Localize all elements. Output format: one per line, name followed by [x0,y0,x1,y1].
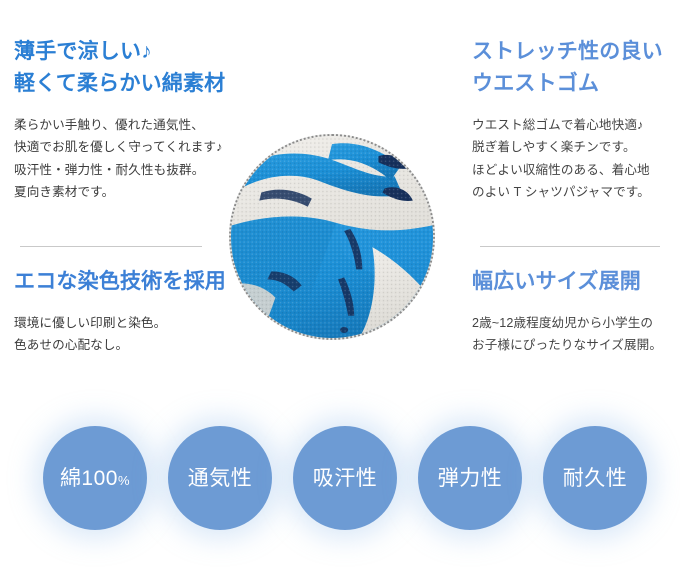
feature-body: 環境に優しい印刷と染色。 色あせの心配なし。 [14,312,244,357]
feature-block-eco-dyeing: エコな染色技術を採用 環境に優しい印刷と染色。 色あせの心配なし。 [14,266,244,357]
badge-label-unit: % [118,473,130,488]
badge-sweat-absorbent: 吸汗性 [293,426,397,530]
badge-durable: 耐久性 [543,426,647,530]
feature-block-thin-cool-cotton: 薄手で涼しい♪ 軽くて柔らかい綿素材 柔らかい手触り、優れた通気性、 快適でお肌… [14,36,244,203]
feature-body: 柔らかい手触り、優れた通気性、 快適でお肌を優しく守ってくれます♪ 吸汗性・弾力… [14,114,244,204]
feature-badge-row: 綿100% 通気性 吸汗性 弾力性 耐久性 [0,414,680,542]
fabric-photo-illustration [231,136,433,338]
badge-label-main: 吸汗性 [313,467,378,490]
badge-elastic: 弾力性 [418,426,522,530]
badge-label-main: 通気性 [188,467,253,490]
feature-title: 薄手で涼しい♪ 軽くて柔らかい綿素材 [14,36,244,100]
feature-title: 幅広いサイズ展開 [472,266,680,298]
badge-label: 綿100% [60,468,130,489]
badge-label-main: 綿100 [60,467,118,490]
badge-label: 弾力性 [438,468,503,489]
feature-title: ストレッチ性の良い ウエストゴム [472,36,680,100]
fabric-closeup-photo [229,134,435,340]
badge-label: 耐久性 [563,468,628,489]
divider-right [480,246,660,247]
feature-block-stretch-waist-elastic: ストレッチ性の良い ウエストゴム ウエスト総ゴムで着心地快適♪ 脱ぎ着しやすく楽… [472,36,680,203]
feature-body: 2歳~12歳程度幼児から小学生の お子様にぴったりなサイズ展開。 [472,312,680,357]
badge-cotton-100: 綿100% [43,426,147,530]
feature-title: エコな染色技術を採用 [14,266,244,298]
badge-breathable: 通気性 [168,426,272,530]
feature-block-wide-size-range: 幅広いサイズ展開 2歳~12歳程度幼児から小学生の お子様にぴったりなサイズ展開… [472,266,680,357]
product-feature-page: 薄手で涼しい♪ 軽くて柔らかい綿素材 柔らかい手触り、優れた通気性、 快適でお肌… [0,0,680,579]
badge-label-main: 弾力性 [438,467,503,490]
badge-label-main: 耐久性 [563,467,628,490]
feature-body: ウエスト総ゴムで着心地快適♪ 脱ぎ着しやすく楽チンです。 ほどよい収縮性のある、… [472,114,680,204]
badge-label: 吸汗性 [313,468,378,489]
divider-left [20,246,202,247]
badge-label: 通気性 [188,468,253,489]
